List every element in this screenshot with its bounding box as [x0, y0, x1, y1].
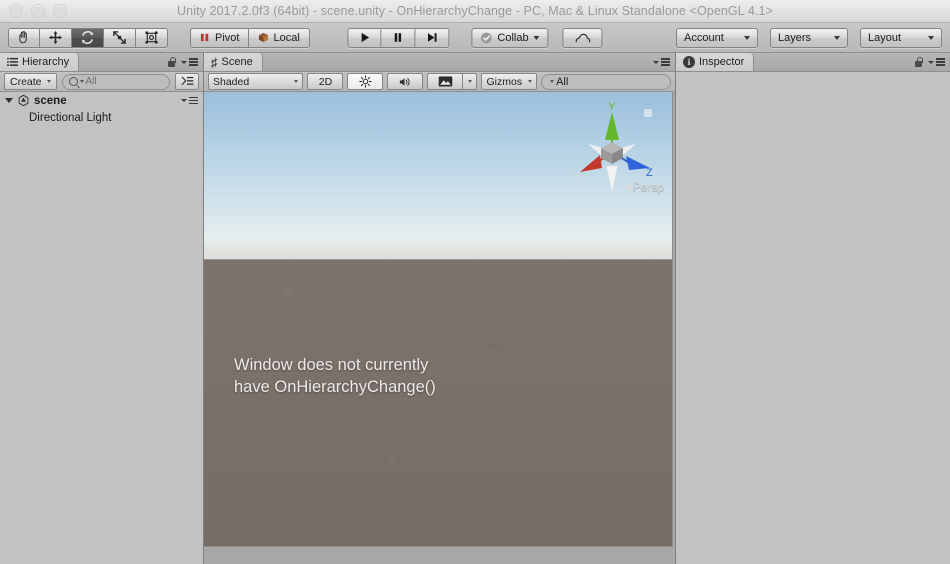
- cloud-icon: [574, 32, 591, 44]
- chevron-down-icon: [294, 80, 298, 83]
- hierarchy-scene-row[interactable]: scene: [0, 92, 203, 109]
- projection-mode-label: Persp: [633, 180, 664, 194]
- pivot-group: Pivot Local: [190, 28, 310, 48]
- window-title: Unity 2017.2.0f3 (64bit) - scene.unity -…: [0, 4, 950, 18]
- scene-grid-icon: ♯: [211, 56, 218, 69]
- gizmo-axis-label-z: Z: [646, 167, 653, 179]
- chevron-down-icon: [744, 36, 750, 40]
- two-d-label: 2D: [319, 76, 332, 88]
- cloud-services-button[interactable]: [563, 28, 603, 48]
- hand-icon: [17, 30, 32, 45]
- gizmo-axis-label-y: Y: [608, 101, 616, 113]
- cube-icon: [258, 32, 269, 43]
- scene-message: Window does not currently have OnHierarc…: [234, 354, 436, 398]
- chevron-down-icon: [834, 36, 840, 40]
- transform-tools-group: [8, 28, 168, 48]
- window-controls[interactable]: [9, 4, 67, 18]
- unity-editor-window: Unity 2017.2.0f3 (64bit) - scene.unity -…: [0, 0, 950, 564]
- pause-button[interactable]: [381, 28, 415, 48]
- account-label: Account: [684, 32, 724, 44]
- minimize-button[interactable]: [31, 4, 45, 18]
- main-toolbar: Pivot Local: [0, 23, 950, 53]
- lock-icon[interactable]: [167, 57, 176, 68]
- layers-label: Layers: [778, 32, 811, 44]
- pause-icon: [391, 31, 404, 44]
- scene-search-placeholder: All: [556, 76, 568, 88]
- rotate-icon: [80, 30, 95, 45]
- gizmo-axis-label-x: X: [574, 171, 582, 183]
- hierarchy-tab-label: Hierarchy: [22, 56, 69, 68]
- sun-icon: [359, 75, 372, 88]
- local-toggle-button[interactable]: Local: [249, 28, 309, 48]
- effects-button[interactable]: [427, 73, 463, 90]
- toggle-lighting-button[interactable]: [347, 73, 383, 90]
- tab-hierarchy[interactable]: Hierarchy: [0, 53, 79, 71]
- pivot-toggle-button[interactable]: Pivot: [190, 28, 249, 48]
- info-icon: i: [683, 56, 695, 68]
- effects-dropdown-arrow[interactable]: [463, 73, 477, 90]
- account-dropdown[interactable]: Account: [676, 28, 758, 48]
- play-icon: [358, 31, 371, 44]
- local-label: Local: [273, 32, 299, 44]
- inspector-tab-tools: [914, 53, 950, 71]
- draw-mode-dropdown[interactable]: Shaded: [208, 73, 303, 90]
- hierarchy-tree: scene Directional Light: [0, 92, 203, 564]
- inspector-tab-row: i Inspector: [676, 53, 950, 72]
- lock-icon[interactable]: [914, 57, 923, 68]
- hierarchy-sort-button[interactable]: [175, 73, 199, 90]
- scene-view-container: Window does not currently have OnHierarc…: [204, 92, 675, 564]
- hand-tool-button[interactable]: [8, 28, 40, 48]
- rect-tool-button[interactable]: [136, 28, 168, 48]
- scene-context-menu-icon[interactable]: [181, 97, 203, 105]
- tab-scene[interactable]: ♯ Scene: [204, 53, 263, 71]
- panel-menu-icon[interactable]: [181, 58, 198, 66]
- scene-tab-label: Scene: [222, 56, 253, 68]
- scene-panel: ♯ Scene Shaded 2D: [204, 53, 676, 564]
- inspector-content: [676, 72, 950, 564]
- toggle-audio-button[interactable]: [387, 73, 423, 90]
- hierarchy-search-placeholder: All: [86, 76, 97, 87]
- step-button[interactable]: [415, 28, 449, 48]
- scene-toolbar: Shaded 2D: [204, 72, 675, 92]
- hierarchy-icon: [7, 57, 18, 67]
- collab-check-icon: [480, 32, 492, 44]
- toggle-2d-button[interactable]: 2D: [307, 73, 343, 90]
- playback-cluster: Collab: [347, 28, 602, 48]
- scale-icon: [112, 30, 127, 45]
- hierarchy-tab-row: Hierarchy: [0, 53, 203, 72]
- hierarchy-item-label: Directional Light: [29, 112, 111, 124]
- zoom-button[interactable]: [53, 4, 67, 18]
- draw-mode-label: Shaded: [213, 76, 249, 88]
- playback-group: [347, 28, 449, 48]
- effects-split-button: [427, 73, 477, 90]
- close-button[interactable]: [9, 4, 23, 18]
- image-icon: [438, 76, 453, 87]
- play-button[interactable]: [347, 28, 381, 48]
- scene-tab-row: ♯ Scene: [204, 53, 675, 72]
- chevron-down-icon: [528, 80, 532, 83]
- tab-inspector[interactable]: i Inspector: [676, 53, 754, 71]
- search-filter-chevron-icon: [80, 80, 84, 83]
- hierarchy-panel: Hierarchy Create Al: [0, 53, 204, 564]
- scene-search-input[interactable]: All: [541, 74, 671, 90]
- rotate-tool-button[interactable]: [72, 28, 104, 48]
- scene-viewport[interactable]: Window does not currently have OnHierarc…: [204, 92, 672, 546]
- collab-button[interactable]: Collab: [471, 28, 548, 48]
- chevron-down-icon: [468, 80, 472, 83]
- projection-arrow-icon: [624, 183, 630, 191]
- gizmo-lock-icon[interactable]: [644, 109, 652, 117]
- scene-grid: [204, 260, 672, 546]
- unity-logo-icon: [17, 94, 30, 107]
- collab-label: Collab: [497, 32, 528, 44]
- layers-dropdown[interactable]: Layers: [770, 28, 848, 48]
- chevron-down-icon: [47, 80, 51, 83]
- hierarchy-toolbar: Create All: [0, 72, 203, 92]
- disclosure-triangle-icon[interactable]: [5, 98, 13, 103]
- layout-dropdown[interactable]: Layout: [860, 28, 942, 48]
- right-toolbar-cluster: Account Layers Layout: [676, 28, 942, 48]
- projection-mode-label-group[interactable]: Persp: [624, 180, 664, 194]
- scene-tab-tools: [653, 53, 675, 71]
- panel-menu-icon[interactable]: [928, 58, 945, 66]
- step-icon: [425, 31, 438, 44]
- search-filter-chevron-icon: [550, 80, 554, 83]
- panel-menu-icon[interactable]: [653, 58, 670, 66]
- scale-tool-button[interactable]: [104, 28, 136, 48]
- pivot-label: Pivot: [215, 32, 239, 44]
- create-label: Create: [10, 76, 42, 88]
- hierarchy-scene-label: scene: [34, 95, 67, 107]
- sort-icon: [181, 76, 194, 87]
- title-bar: Unity 2017.2.0f3 (64bit) - scene.unity -…: [0, 0, 950, 23]
- layout-label: Layout: [868, 32, 901, 44]
- inspector-tab-label: Inspector: [699, 56, 744, 68]
- hierarchy-item-directional-light[interactable]: Directional Light: [0, 109, 203, 126]
- search-icon: [69, 77, 78, 86]
- speaker-icon: [398, 76, 412, 88]
- rect-transform-icon: [144, 30, 159, 45]
- inspector-panel: i Inspector: [676, 53, 950, 564]
- move-icon: [48, 30, 63, 45]
- create-dropdown[interactable]: Create: [4, 73, 57, 90]
- pivot-icon: [200, 32, 211, 43]
- hierarchy-tab-tools: [167, 53, 203, 71]
- gizmos-dropdown[interactable]: Gizmos: [481, 73, 537, 90]
- chevron-down-icon: [534, 36, 540, 40]
- hierarchy-search-input[interactable]: All: [62, 74, 170, 90]
- chevron-down-icon: [928, 36, 934, 40]
- gizmos-label: Gizmos: [486, 76, 522, 88]
- move-tool-button[interactable]: [40, 28, 72, 48]
- workspace: Hierarchy Create Al: [0, 53, 950, 564]
